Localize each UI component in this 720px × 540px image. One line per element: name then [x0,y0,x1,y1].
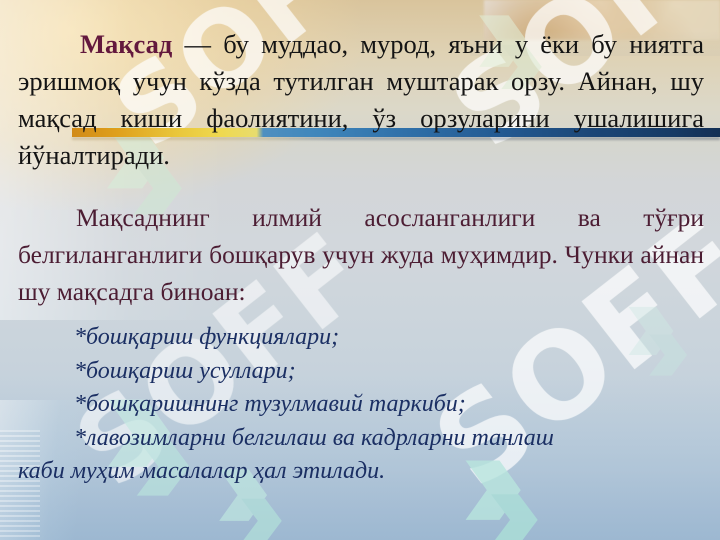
slide-content: Мақсад — бу муддао, мурод, яъни у ёки бу… [0,0,720,540]
list-item: *бошқариш функциялари; [18,321,708,355]
bullet-list: *бошқариш функциялари; *бошқариш усуллар… [18,321,708,489]
paragraph-definition: Мақсад — бу муддао, мурод, яъни у ёки бу… [18,26,704,174]
list-item: *бошқаришнинг тузулмавий таркиби; [18,388,708,422]
list-item: *бошқариш усуллари; [18,355,708,389]
lead-term: Мақсад [80,29,172,59]
paragraph-importance: Мақсаднинг илмий асосланганлиги ва тўғри… [18,199,704,310]
list-item: *лавозимларни белгилаш ва кадрларни танл… [18,422,708,456]
presentation-slide: SOFF SOFF SOFF SOFF [0,0,720,540]
list-closing-line: каби муҳим масалалар ҳал этилади. [18,455,708,489]
